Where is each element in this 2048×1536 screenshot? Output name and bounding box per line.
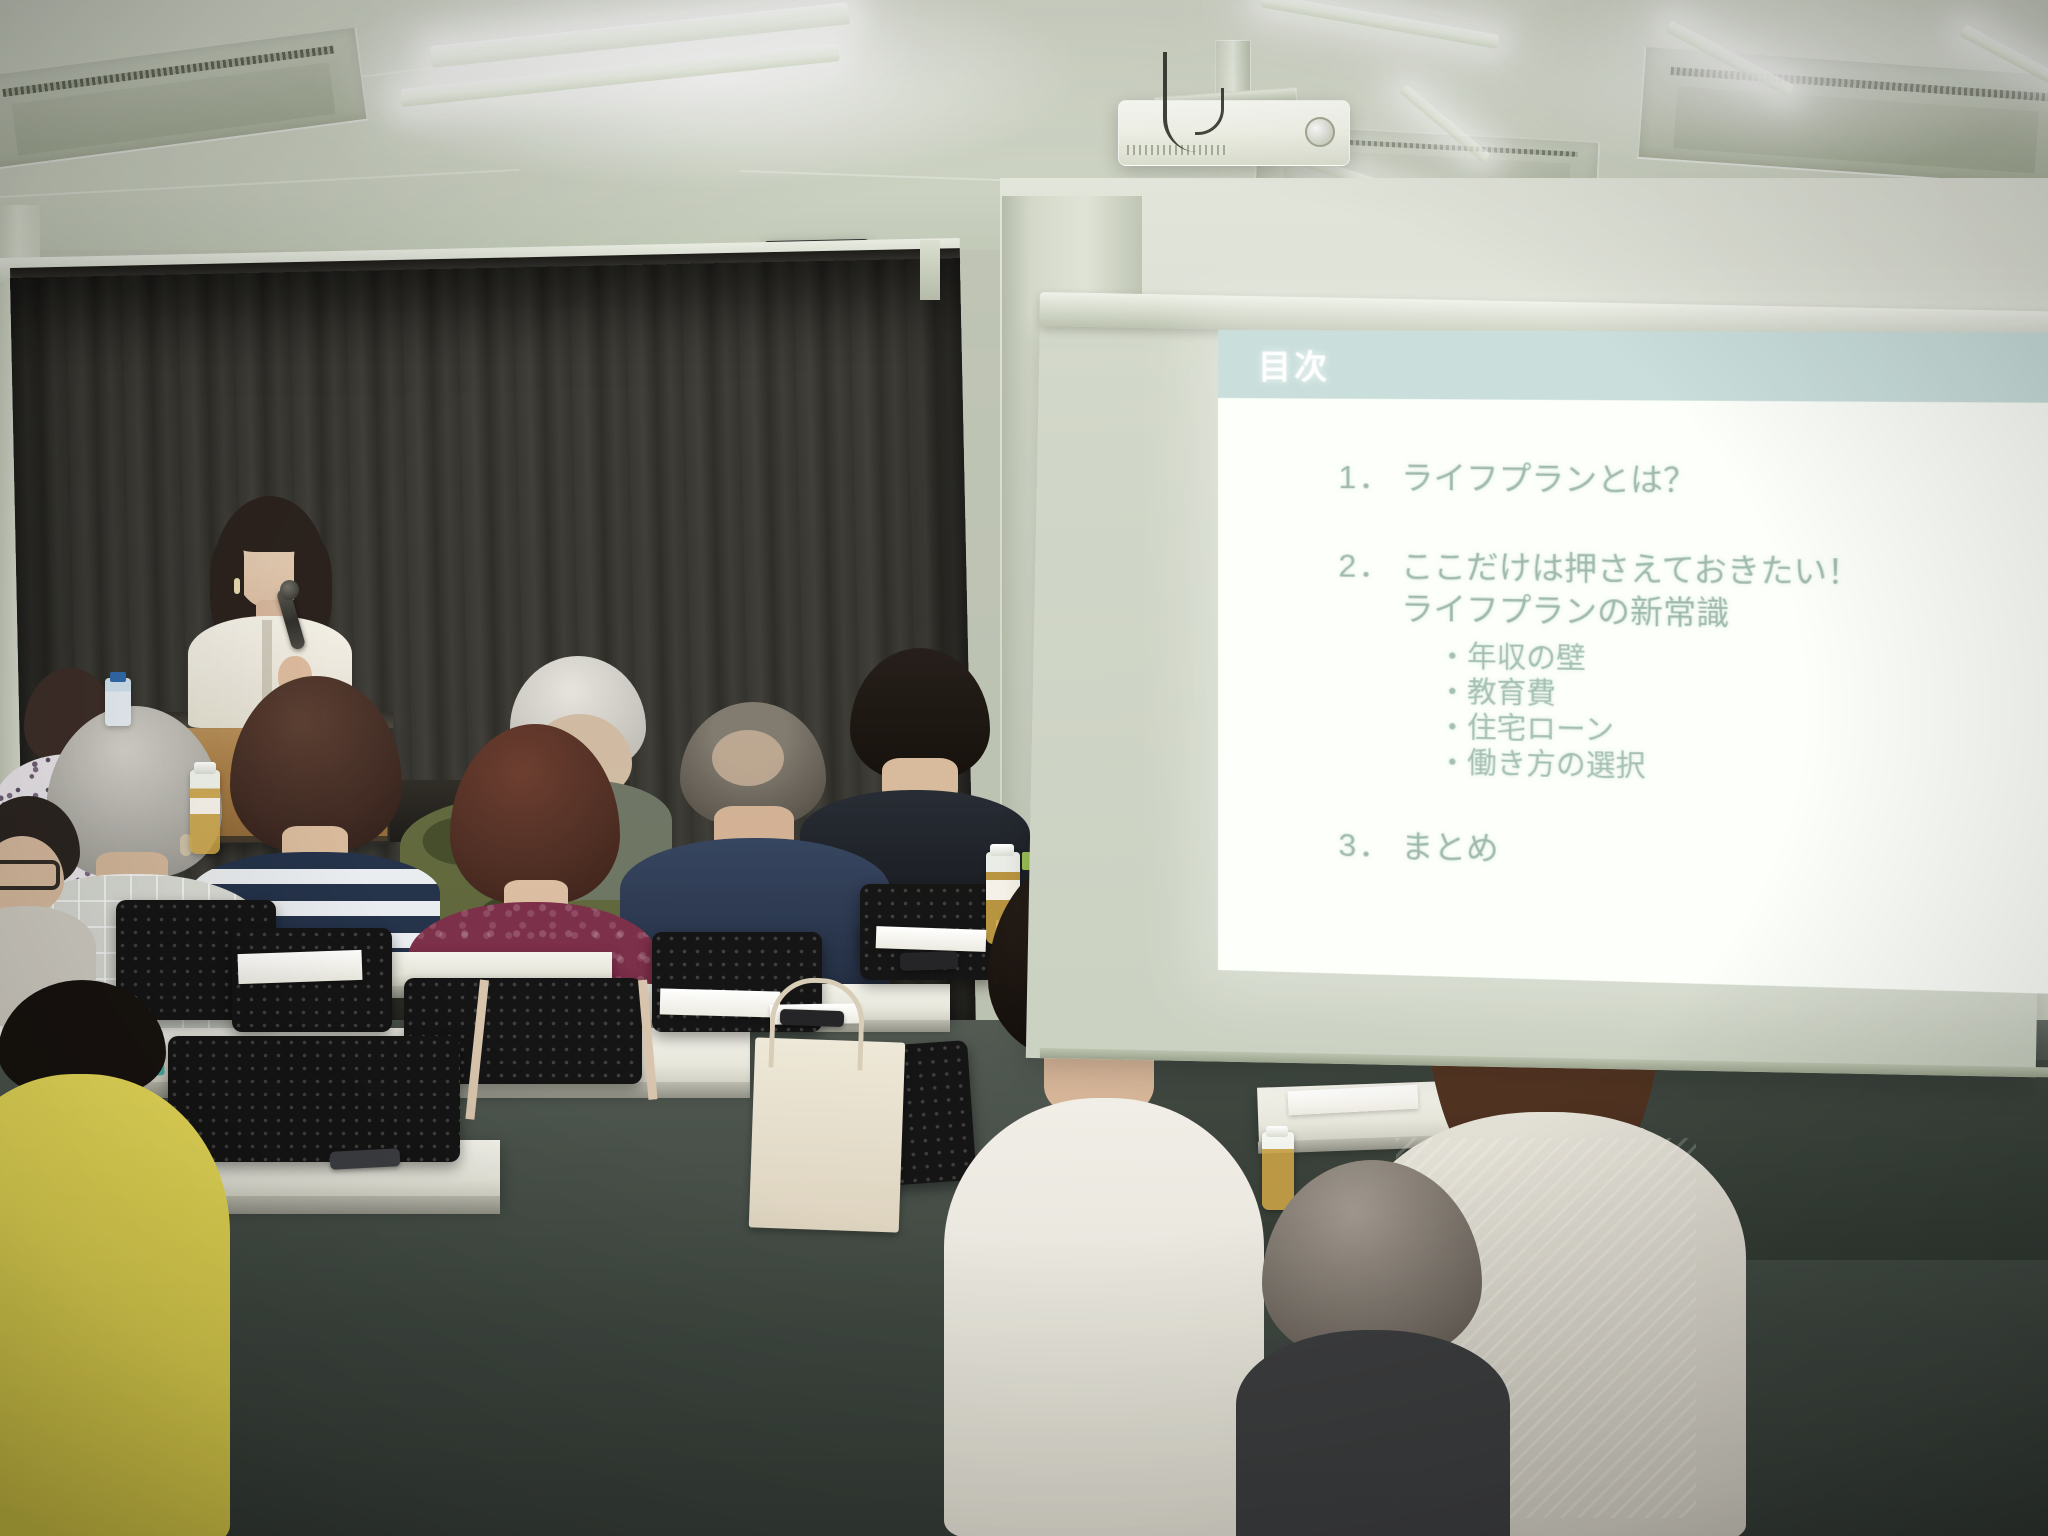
toc-bullet: ・教育費	[1438, 679, 1861, 716]
toc-line: ライフプランとは？	[1401, 461, 1696, 496]
slide-title: 目次	[1258, 340, 1330, 388]
toc-number: 1．	[1338, 461, 1401, 504]
torso	[0, 1074, 230, 1536]
toc-item-2: 2． ここだけは押さえておきたい！ ライフプランの新常識 ・年収の壁 ・教育費 …	[1338, 549, 2048, 798]
bottle-cap	[1266, 1126, 1288, 1137]
curtain-end-cap	[920, 240, 940, 300]
smartphone-icon	[900, 951, 959, 971]
toc-line: ここだけは押さえておきたい！	[1401, 550, 1861, 588]
handout-paper	[660, 988, 781, 1017]
microphone-head-icon	[280, 580, 299, 600]
toc-bullet: ・年収の壁	[1438, 643, 1861, 679]
bottle-label	[190, 798, 220, 814]
toc-number: 3．	[1338, 829, 1401, 873]
glasses-icon	[0, 860, 60, 890]
torso	[944, 1098, 1264, 1536]
bottle-cap	[110, 672, 126, 682]
projected-slide: 目次 1． ライフプランとは？ 2． ここだけは押さえておきたい！ ライフプラン…	[1218, 330, 2048, 995]
toc-bullet: ・働き方の選択	[1438, 749, 1861, 787]
smartphone-icon	[330, 1148, 401, 1170]
projector-icon	[1118, 100, 1350, 166]
slide-body: 1． ライフプランとは？ 2． ここだけは押さえておきたい！ ライフプランの新常…	[1218, 398, 2048, 889]
toc-line: まとめ	[1401, 830, 1499, 865]
toc-item-3: 3． まとめ	[1338, 829, 2048, 889]
bottle-cap	[194, 762, 216, 774]
toc-bullet: ・住宅ローン	[1438, 714, 1861, 751]
handout-paper	[238, 950, 363, 984]
toc-bullets: ・年収の壁 ・教育費 ・住宅ローン ・働き方の選択	[1438, 643, 1861, 793]
water-bottle	[105, 678, 131, 726]
toc-number: 2．	[1338, 549, 1401, 783]
projector-cable	[1163, 52, 1197, 152]
torso	[1236, 1330, 1510, 1536]
toc-line: ライフプランの新常識	[1401, 592, 1861, 631]
audience-member	[0, 980, 220, 1536]
slide-header: 目次	[1218, 330, 2048, 403]
hair	[450, 724, 620, 904]
seminar-room-photo: 目次 1． ライフプランとは？ 2． ここだけは押さえておきたい！ ライフプラン…	[0, 0, 2048, 1536]
audience-member	[1252, 1160, 1492, 1536]
earring-icon	[234, 578, 240, 594]
tote-bag-handle	[768, 976, 865, 1070]
toc-item-1: 1． ライフプランとは？	[1338, 461, 2048, 511]
bald-spot	[712, 730, 784, 786]
